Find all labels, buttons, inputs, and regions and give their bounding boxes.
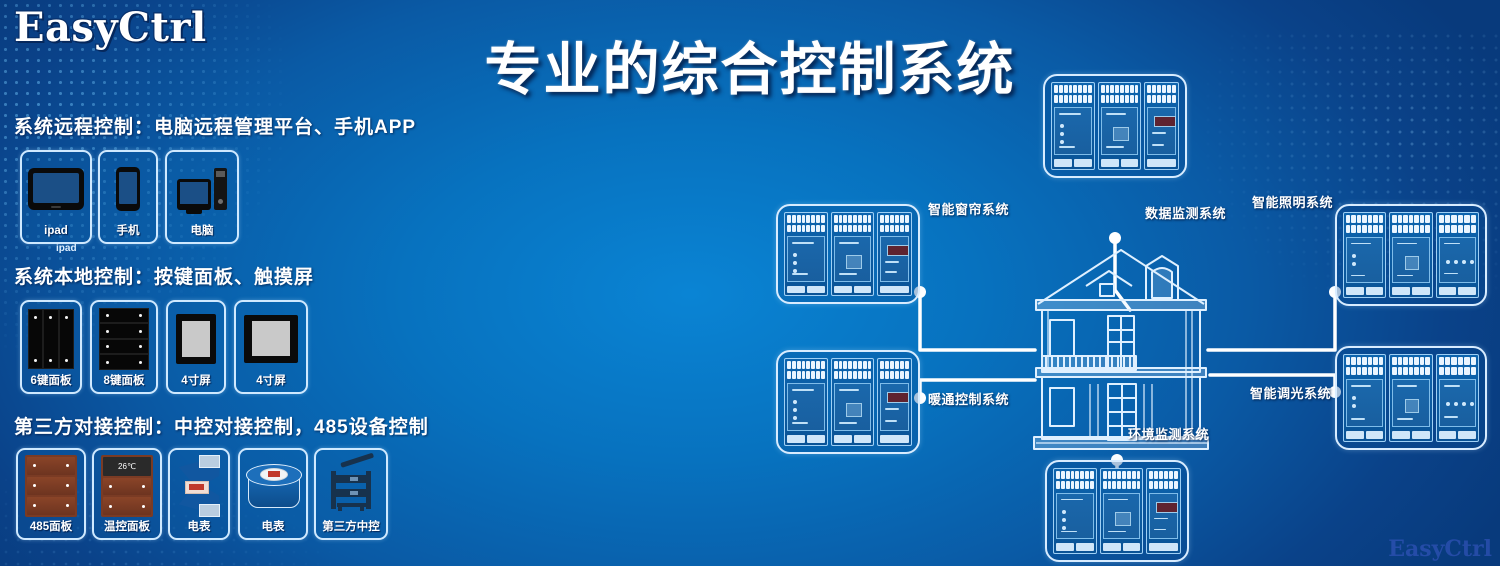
ipad-sub-note: ipad bbox=[56, 243, 77, 254]
din-module bbox=[831, 212, 875, 296]
device-card-ipad[interactable]: ipad bbox=[20, 150, 92, 244]
device-card-thermostat-panel[interactable]: 26℃ 温控面板 bbox=[92, 448, 162, 540]
din-module bbox=[1389, 212, 1432, 298]
four-inch-screen-icon bbox=[168, 302, 224, 376]
node-label-hvac: 暖通控制系统 bbox=[928, 389, 1009, 408]
module-box-hvac[interactable] bbox=[776, 350, 920, 454]
device-card-label: 4寸屏 bbox=[256, 376, 285, 393]
node-label-lighting: 智能照明系统 bbox=[1252, 192, 1333, 211]
device-card-meter-square[interactable]: 电表 bbox=[168, 448, 230, 540]
device-card-phone[interactable]: 手机 bbox=[98, 150, 158, 244]
device-card-pc[interactable]: 电脑 bbox=[165, 150, 239, 244]
energy-meter-round-icon bbox=[240, 450, 306, 522]
section-heading-local-control: 系统本地控制：按键面板、触摸屏 bbox=[14, 262, 314, 289]
four-inch-screen-wide-icon bbox=[236, 302, 306, 376]
node-label-data: 数据监测系统 bbox=[1145, 203, 1226, 222]
system-topology-diagram: 智能窗帘系统 数据监测系统 智能照明系统 暖通控制系统 环境监测系统 智能调光系… bbox=[760, 60, 1500, 566]
third-party-controller-icon bbox=[316, 450, 386, 522]
watermark-logo: EasyCtrl bbox=[1388, 536, 1492, 562]
energy-meter-square-icon bbox=[170, 450, 228, 522]
din-module bbox=[1051, 82, 1095, 170]
node-label-environment: 环境监测系统 bbox=[1128, 424, 1209, 443]
din-module bbox=[1100, 468, 1144, 554]
din-module bbox=[1053, 468, 1097, 554]
device-card-label: 4寸屏 bbox=[181, 376, 210, 393]
device-card-label: 电表 bbox=[262, 522, 285, 539]
device-card-4inch-screen-a[interactable]: 4寸屏 bbox=[166, 300, 226, 394]
din-module bbox=[877, 358, 912, 446]
device-card-485-panel[interactable]: 485面板 bbox=[16, 448, 86, 540]
desktop-computer-icon bbox=[167, 152, 237, 226]
din-module bbox=[1436, 354, 1479, 442]
brand-logo: EasyCtrl bbox=[14, 4, 207, 51]
six-key-panel-icon bbox=[22, 302, 80, 376]
din-module bbox=[1343, 354, 1386, 442]
module-box-environment[interactable] bbox=[1045, 460, 1189, 562]
thermostat-display: 26℃ bbox=[103, 457, 151, 476]
device-card-label: 电脑 bbox=[191, 226, 214, 243]
node-label-dimming: 智能调光系统 bbox=[1250, 383, 1331, 402]
section-heading-third-party: 第三方对接控制：中控对接控制，485设备控制 bbox=[14, 412, 429, 439]
din-module bbox=[831, 358, 875, 446]
tablet-icon bbox=[22, 152, 90, 226]
device-card-label: ipad bbox=[44, 226, 68, 243]
poster-canvas: EasyCtrl 专业的综合控制系统 系统远程控制：电脑远程管理平台、手机APP… bbox=[0, 0, 1500, 566]
device-card-4inch-screen-b[interactable]: 4寸屏 bbox=[234, 300, 308, 394]
smartphone-icon bbox=[100, 152, 156, 226]
device-card-meter-round[interactable]: 电表 bbox=[238, 448, 308, 540]
din-module bbox=[784, 358, 828, 446]
module-box-lighting[interactable] bbox=[1335, 204, 1487, 306]
rs485-panel-icon bbox=[18, 450, 84, 522]
din-module bbox=[1389, 354, 1432, 442]
din-module bbox=[877, 212, 912, 296]
section-heading-remote-control: 系统远程控制：电脑远程管理平台、手机APP bbox=[14, 112, 416, 139]
din-module bbox=[1098, 82, 1142, 170]
eight-key-panel-icon bbox=[92, 302, 156, 376]
module-box-data[interactable] bbox=[1043, 74, 1187, 178]
device-card-8key-panel[interactable]: 8键面板 bbox=[90, 300, 158, 394]
device-card-label: 电表 bbox=[188, 522, 211, 539]
din-module bbox=[1343, 212, 1386, 298]
din-module bbox=[1146, 468, 1181, 554]
device-card-label: 手机 bbox=[117, 226, 140, 243]
device-card-third-party-controller[interactable]: 第三方中控 bbox=[314, 448, 388, 540]
device-card-label: 温控面板 bbox=[104, 522, 150, 539]
din-module bbox=[784, 212, 828, 296]
module-box-dimming[interactable] bbox=[1335, 346, 1487, 450]
din-module bbox=[1144, 82, 1179, 170]
thermostat-panel-icon: 26℃ bbox=[94, 450, 160, 522]
device-card-label: 第三方中控 bbox=[322, 522, 380, 539]
device-card-label: 485面板 bbox=[30, 522, 72, 539]
din-module bbox=[1436, 212, 1479, 298]
device-card-label: 8键面板 bbox=[104, 376, 145, 393]
device-card-6key-panel[interactable]: 6键面板 bbox=[20, 300, 82, 394]
node-label-curtain: 智能窗帘系统 bbox=[928, 199, 1009, 218]
module-box-curtain[interactable] bbox=[776, 204, 920, 304]
device-card-label: 6键面板 bbox=[31, 376, 72, 393]
